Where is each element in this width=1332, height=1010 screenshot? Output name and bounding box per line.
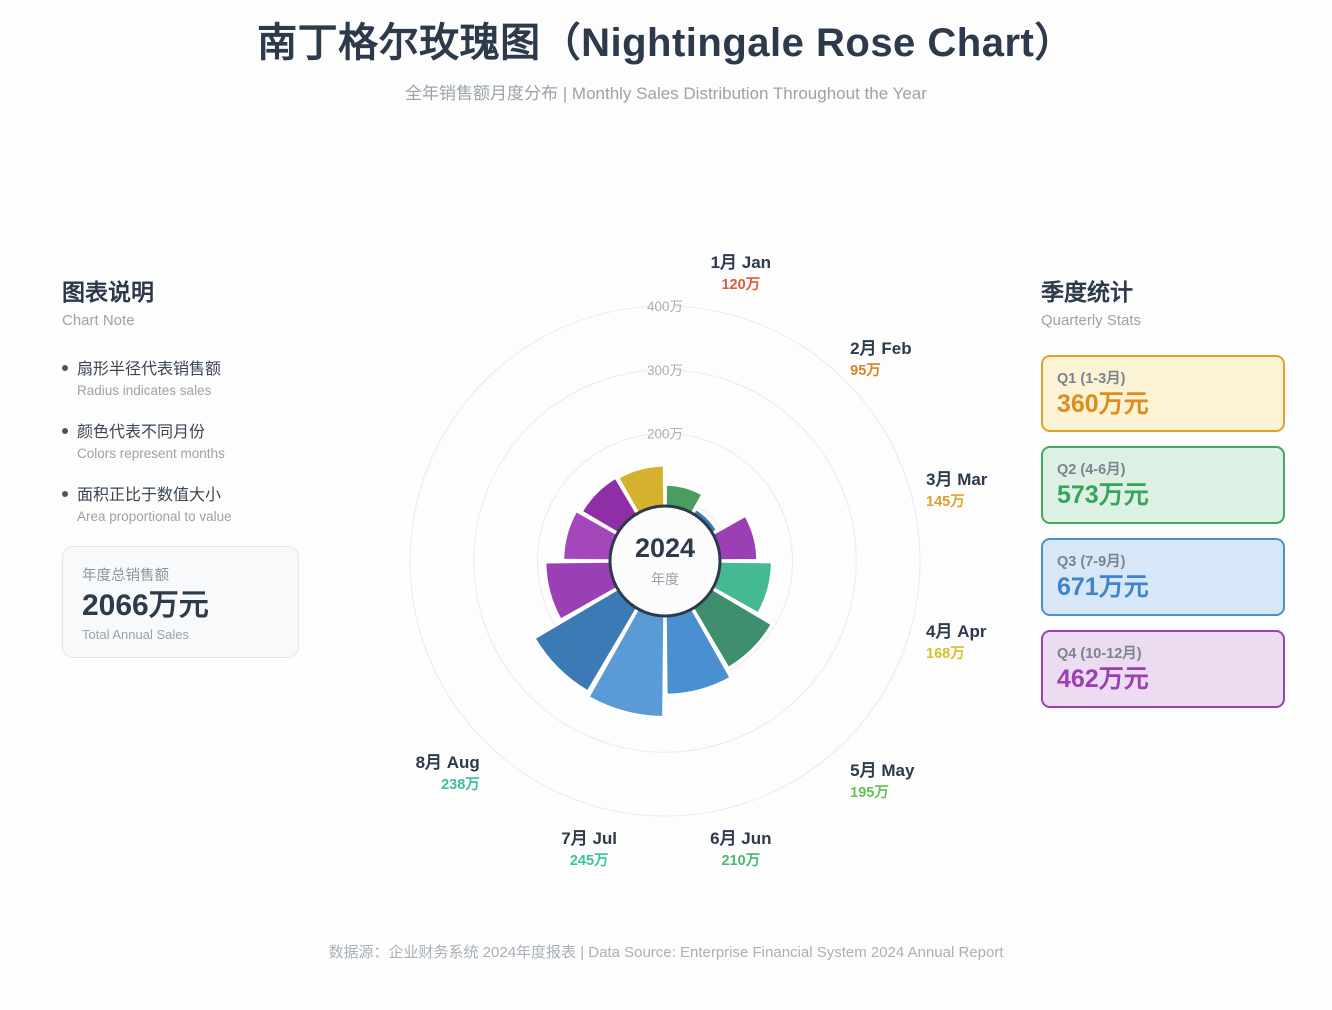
chart-note-cn-text: 面积正比于数值大小 <box>77 481 221 505</box>
chart-note-en: Colors represent months <box>77 446 322 461</box>
quarter-label: Q4 (10-12月) <box>1057 642 1269 663</box>
month-label-6: 6月 Jun210万 <box>710 829 771 869</box>
quarter-label: Q1 (1-3月) <box>1057 367 1269 388</box>
quarter-card-q1[interactable]: Q1 (1-3月)360万元 <box>1041 355 1285 433</box>
month-label-name: 3月 Mar <box>926 470 988 489</box>
quarterly-stats-subtitle: Quarterly Stats <box>1041 312 1291 329</box>
month-label-value: 95万 <box>850 362 881 379</box>
total-sales-value: 2066万元 <box>82 590 279 622</box>
quarterly-stats-panel: 季度统计 Quarterly Stats Q1 (1-3月)360万元Q2 (4… <box>1041 279 1291 722</box>
month-label-value: 238万 <box>441 776 480 793</box>
month-label-value: 120万 <box>721 276 760 293</box>
hub-sub-text: 年度 <box>651 571 679 587</box>
chart-note-panel: 图表说明 Chart Note 扇形半径代表销售额Radius indicate… <box>62 279 322 658</box>
data-source-footer: 数据源：企业财务系统 2024年度报表 | Data Source: Enter… <box>0 941 1332 962</box>
chart-note-cn: 颜色代表不同月份 <box>62 418 322 442</box>
chart-note-subtitle: Chart Note <box>62 312 322 329</box>
rose-chart-svg: 200万300万400万2024年度1月 Jan120万2月 Feb95万3月 … <box>380 258 955 838</box>
quarter-label: Q2 (4-6月) <box>1057 458 1269 479</box>
chart-note-en: Radius indicates sales <box>77 383 322 398</box>
quarterly-stats-title: 季度统计 <box>1041 279 1291 307</box>
month-label-name: 1月 Jan <box>711 253 771 272</box>
hub-year-text: 2024 <box>635 533 695 563</box>
month-label-name: 2月 Feb <box>850 339 911 358</box>
bullet-icon <box>62 491 68 497</box>
chart-note-cn-text: 颜色代表不同月份 <box>77 418 205 442</box>
month-label-value: 195万 <box>850 784 889 801</box>
quarter-card-q2[interactable]: Q2 (4-6月)573万元 <box>1041 446 1285 524</box>
month-label-value: 145万 <box>926 493 965 510</box>
quarter-value: 671万元 <box>1057 573 1269 602</box>
chart-note-en: Area proportional to value <box>77 509 322 524</box>
month-label-3: 3月 Mar145万 <box>926 470 988 510</box>
chart-note-list: 扇形半径代表销售额Radius indicates sales颜色代表不同月份C… <box>62 355 322 524</box>
month-label-name: 7月 Jul <box>561 829 617 848</box>
chart-note-title: 图表说明 <box>62 279 322 307</box>
bullet-icon <box>62 365 68 371</box>
radial-tick-label-400: 400万 <box>647 299 683 314</box>
radial-tick-label-300: 300万 <box>647 363 683 378</box>
chart-note-cn: 面积正比于数值大小 <box>62 481 322 505</box>
chart-note-item: 颜色代表不同月份Colors represent months <box>62 418 322 461</box>
quarter-card-q3[interactable]: Q3 (7-9月)671万元 <box>1041 538 1285 616</box>
chart-note-item: 面积正比于数值大小Area proportional to value <box>62 481 322 524</box>
total-sales-en-label: Total Annual Sales <box>82 627 279 642</box>
month-label-4: 4月 Apr168万 <box>926 622 987 662</box>
quarter-value: 360万元 <box>1057 390 1269 419</box>
total-sales-label: 年度总销售额 <box>82 564 279 585</box>
quarter-value: 462万元 <box>1057 665 1269 694</box>
radial-tick-label-200: 200万 <box>647 427 683 442</box>
quarter-label: Q3 (7-9月) <box>1057 550 1269 571</box>
quarter-card-list: Q1 (1-3月)360万元Q2 (4-6月)573万元Q3 (7-9月)671… <box>1041 355 1291 708</box>
month-label-value: 210万 <box>721 852 760 869</box>
month-label-8: 8月 Aug238万 <box>416 753 480 793</box>
month-label-5: 5月 May195万 <box>850 761 915 801</box>
month-label-name: 6月 Jun <box>710 829 771 848</box>
chart-note-item: 扇形半径代表销售额Radius indicates sales <box>62 355 322 398</box>
month-label-value: 245万 <box>570 852 609 869</box>
month-label-value: 168万 <box>926 645 965 662</box>
page-header: 南丁格尔玫瑰图（Nightingale Rose Chart） 全年销售额月度分… <box>0 18 1332 104</box>
chart-note-cn: 扇形半径代表销售额 <box>62 355 322 379</box>
month-label-name: 4月 Apr <box>926 622 987 641</box>
page-subtitle: 全年销售额月度分布 | Monthly Sales Distribution T… <box>0 79 1332 104</box>
quarter-value: 573万元 <box>1057 481 1269 510</box>
bullet-icon <box>62 428 68 434</box>
total-annual-sales-card: 年度总销售额 2066万元 Total Annual Sales <box>62 546 299 659</box>
month-label-name: 5月 May <box>850 761 915 780</box>
month-label-7: 7月 Jul245万 <box>561 829 617 869</box>
month-label-name: 8月 Aug <box>416 753 480 772</box>
month-label-1: 1月 Jan120万 <box>711 253 771 293</box>
page-title: 南丁格尔玫瑰图（Nightingale Rose Chart） <box>0 18 1332 68</box>
nightingale-rose-chart: 200万300万400万2024年度1月 Jan120万2月 Feb95万3月 … <box>380 258 955 838</box>
chart-note-cn-text: 扇形半径代表销售额 <box>77 355 221 379</box>
month-label-2: 2月 Feb95万 <box>850 339 911 379</box>
quarter-card-q4[interactable]: Q4 (10-12月)462万元 <box>1041 630 1285 708</box>
